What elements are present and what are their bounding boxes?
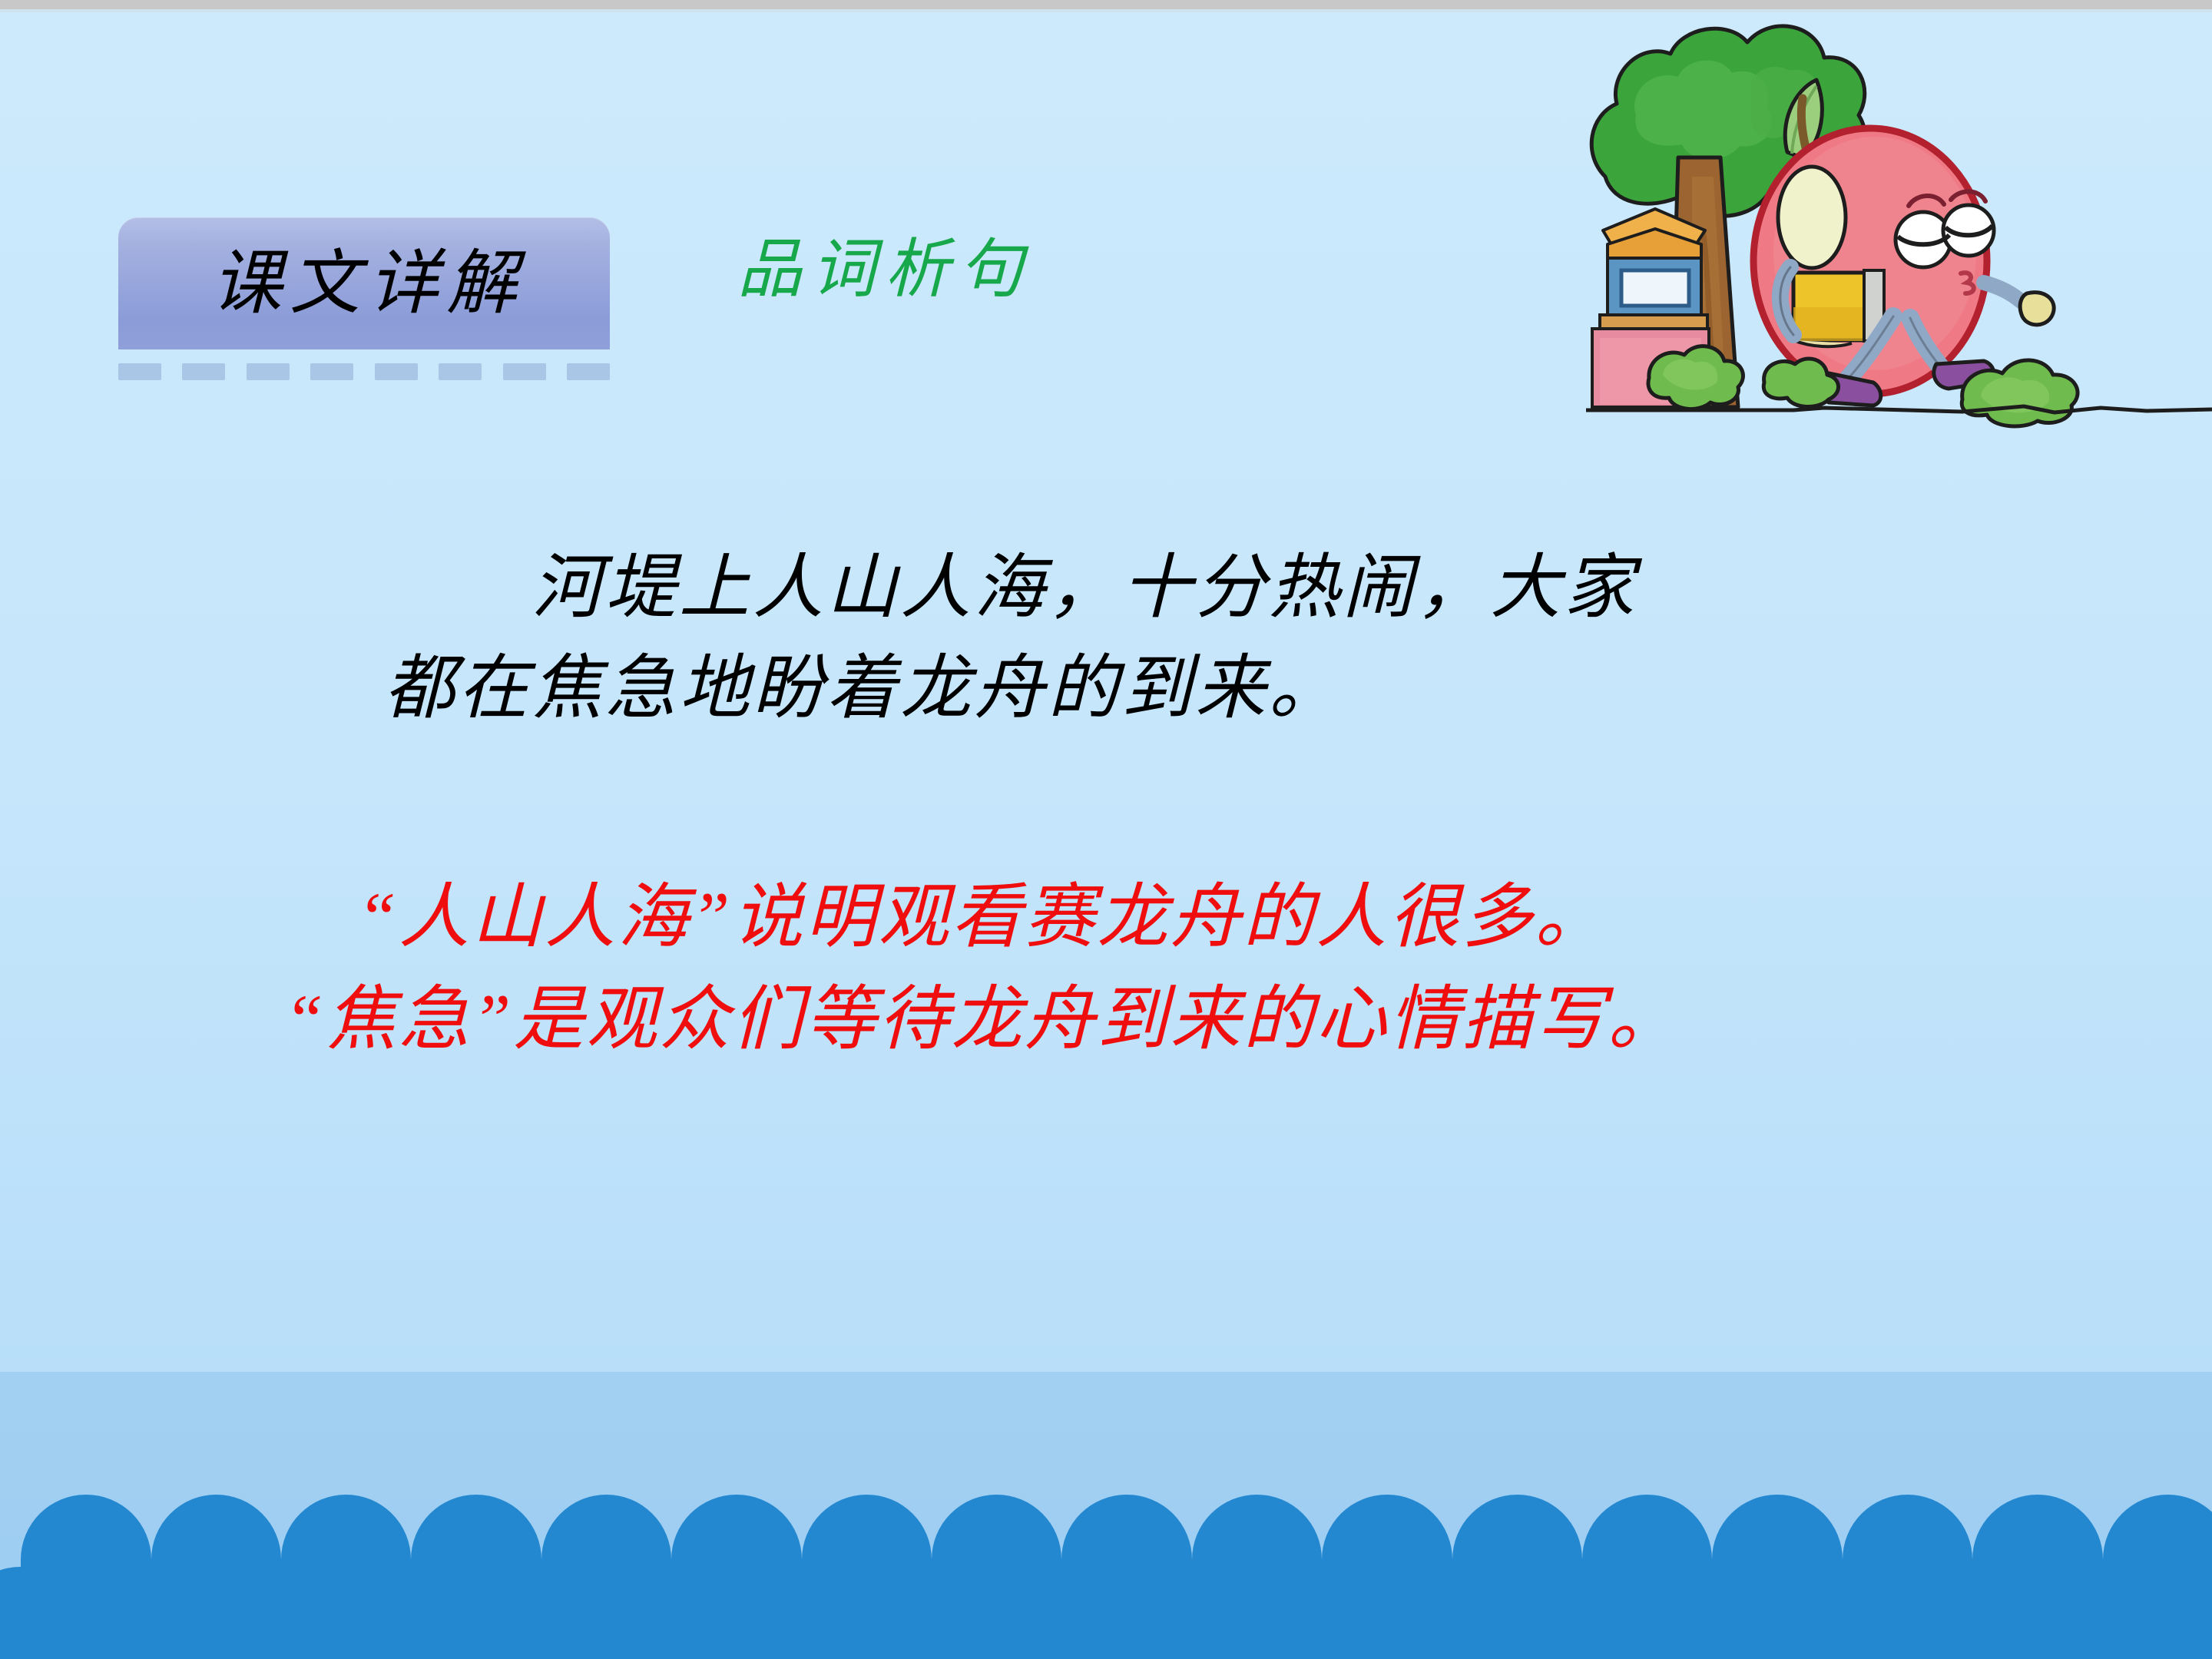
dash-segment	[182, 363, 225, 380]
section-label-box[interactable]: 课文详解	[118, 217, 610, 349]
slide-canvas: 课文详解 品词析句 河堤上人山人海，十分热闹，大家 都在焦急地盼着龙舟的到来。 …	[0, 0, 2212, 1659]
dash-segment	[375, 363, 418, 380]
scallop-arch	[2038, 1567, 2167, 1659]
scallop-arch	[1908, 1567, 2038, 1659]
scallop-arch	[1517, 1567, 1647, 1659]
lesson-analysis-text: “人山人海”说明观看赛龙舟的人很多。 “焦急”是观众们等待龙舟到来的心情描写。	[284, 866, 1866, 1071]
section-title: 品词析句	[737, 238, 1032, 303]
scallop-arch	[737, 1567, 866, 1659]
scallop-arch	[86, 1567, 216, 1659]
scallop-arch	[1127, 1567, 1257, 1659]
dash-segment	[310, 363, 353, 380]
scallop-arch	[997, 1567, 1127, 1659]
scallop-arch	[1387, 1567, 1517, 1659]
scallop-arch	[216, 1567, 346, 1659]
scallop-row-front	[0, 1567, 2212, 1659]
dash-segment	[118, 363, 161, 380]
scallop-arch	[346, 1567, 476, 1659]
dash-segment	[247, 363, 290, 380]
scallop-arch	[866, 1567, 996, 1659]
dash-segment	[503, 363, 546, 380]
section-label-text: 课文详解	[118, 248, 610, 319]
scallop-arch	[476, 1567, 606, 1659]
section-label-dashed-underline	[118, 363, 610, 383]
dash-segment	[567, 363, 610, 380]
scallop-arch	[1777, 1567, 1907, 1659]
scallop-arch	[2167, 1567, 2212, 1659]
scallop-arch	[1647, 1567, 1777, 1659]
section-label-group: 课文详解	[118, 217, 610, 349]
lesson-passage-text: 河堤上人山人海，十分热闹，大家 都在焦急地盼着龙舟的到来。	[384, 538, 1828, 738]
scallop-arch	[0, 1567, 86, 1659]
bottom-decorative-band	[0, 1372, 2212, 1659]
apple-mascot-illustration	[1563, 0, 2212, 430]
scallop-arch	[1257, 1567, 1387, 1659]
dash-segment	[439, 363, 482, 380]
scallop-arch	[606, 1567, 736, 1659]
